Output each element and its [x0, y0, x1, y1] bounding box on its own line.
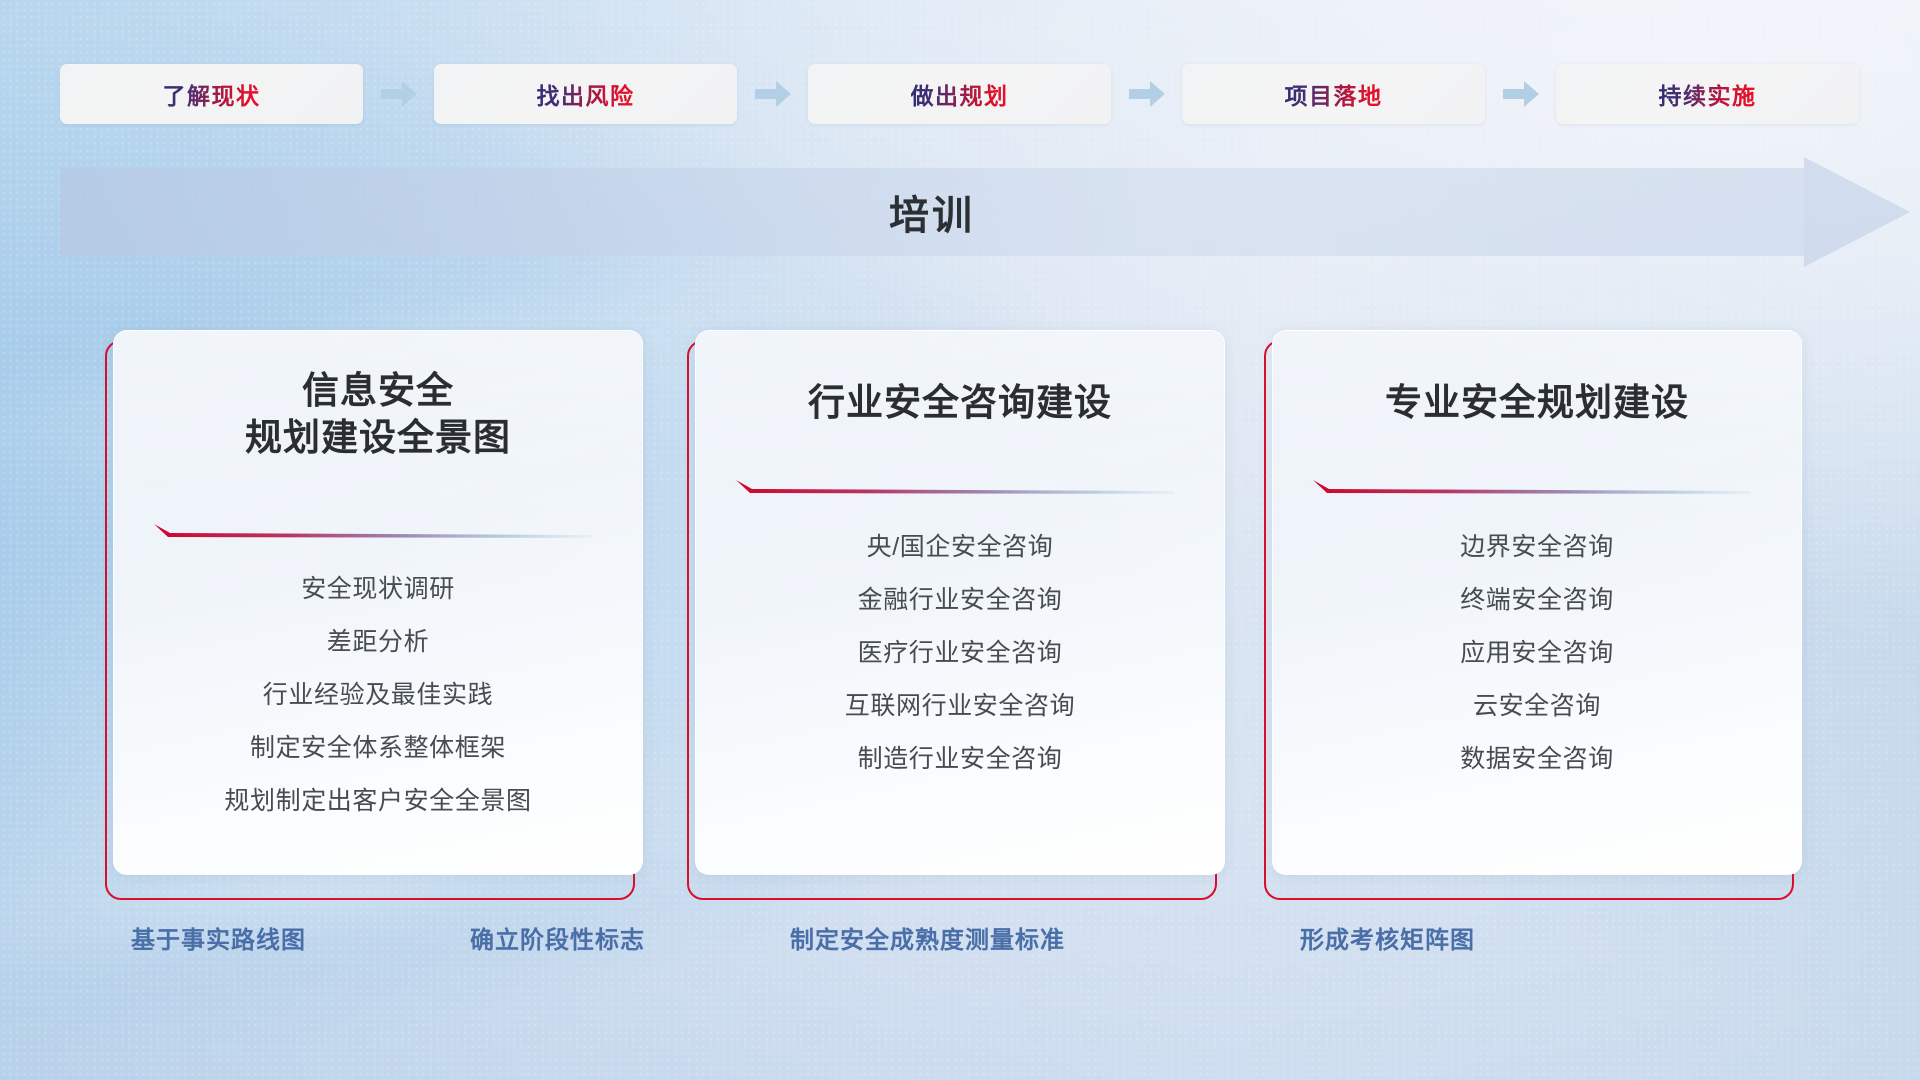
tapered-divider-icon — [154, 523, 592, 541]
arrow-right-icon — [381, 81, 417, 107]
capability-card-3[interactable]: 专业安全规划建设 边界安全咨询 — [1272, 330, 1802, 890]
card-1-title: 信息安全 规划建设全景图 — [114, 367, 642, 462]
card-2-item-list: 央/国企安全咨询 金融行业安全咨询 医疗行业安全咨询 互联网行业安全咨询 制造行… — [696, 527, 1224, 775]
card-3-title: 专业安全规划建设 — [1273, 379, 1801, 426]
arrow-right-icon — [1129, 81, 1165, 107]
list-item: 云安全咨询 — [1473, 686, 1601, 722]
footer-caption-4: 形成考核矩阵图 — [1300, 920, 1475, 955]
process-step-4-label: 项目落地 — [1285, 77, 1383, 111]
list-item: 互联网行业安全咨询 — [845, 686, 1075, 722]
process-step-2[interactable]: 找出风险 — [434, 64, 737, 124]
list-item: 应用安全咨询 — [1460, 633, 1614, 669]
card-1-panel: 信息安全 规划建设全景图 安全现状调研 — [113, 330, 643, 875]
card-3-divider — [1313, 479, 1751, 497]
tapered-divider-icon — [1313, 479, 1751, 497]
card-3-item-list: 边界安全咨询 终端安全咨询 应用安全咨询 云安全咨询 数据安全咨询 — [1273, 527, 1801, 775]
process-step-5[interactable]: 持续实施 — [1556, 64, 1859, 124]
footer-caption-row: 基于事实路线图 确立阶段性标志 制定安全成熟度测量标准 形成考核矩阵图 — [0, 920, 1920, 966]
list-item: 制定安全体系整体框架 — [250, 728, 506, 764]
process-step-3-label: 做出规划 — [911, 77, 1009, 111]
process-step-1-label: 了解现状 — [163, 77, 261, 111]
arrow-right-icon — [1503, 81, 1539, 107]
card-3-panel: 专业安全规划建设 边界安全咨询 — [1272, 330, 1802, 875]
list-item: 行业经验及最佳实践 — [263, 675, 493, 711]
list-item: 数据安全咨询 — [1460, 739, 1614, 775]
step-connector-4 — [1485, 64, 1556, 124]
list-item: 制造行业安全咨询 — [858, 739, 1063, 775]
training-banner: 培训 — [60, 168, 1860, 256]
card-1-item-list: 安全现状调研 差距分析 行业经验及最佳实践 制定安全体系整体框架 规划制定出客户… — [114, 569, 642, 817]
list-item: 央/国企安全咨询 — [867, 527, 1054, 563]
step-connector-3 — [1111, 64, 1182, 124]
list-item: 差距分析 — [327, 622, 429, 658]
step-connector-2 — [737, 64, 808, 124]
footer-caption-2: 确立阶段性标志 — [470, 920, 645, 955]
capability-card-2[interactable]: 行业安全咨询建设 央/国企安全咨询 — [695, 330, 1225, 890]
process-step-1[interactable]: 了解现状 — [60, 64, 363, 124]
list-item: 金融行业安全咨询 — [858, 580, 1063, 616]
list-item: 医疗行业安全咨询 — [858, 633, 1063, 669]
training-banner-label: 培训 — [60, 168, 1804, 256]
tapered-divider-icon — [736, 479, 1174, 497]
card-2-panel: 行业安全咨询建设 央/国企安全咨询 — [695, 330, 1225, 875]
process-step-4[interactable]: 项目落地 — [1182, 64, 1485, 124]
footer-caption-1: 基于事实路线图 — [131, 920, 306, 955]
training-banner-arrow-tip — [1804, 157, 1910, 267]
card-2-divider — [736, 479, 1174, 497]
capability-card-1[interactable]: 信息安全 规划建设全景图 安全现状调研 — [113, 330, 643, 890]
list-item: 安全现状调研 — [301, 569, 455, 605]
process-step-flow: 了解现状 找出风险 做出规划 项目落地 持续实施 — [60, 64, 1860, 124]
process-step-2-label: 找出风险 — [537, 77, 635, 111]
card-2-title: 行业安全咨询建设 — [696, 379, 1224, 426]
process-step-5-label: 持续实施 — [1659, 77, 1757, 111]
capability-card-row: 信息安全 规划建设全景图 安全现状调研 — [0, 330, 1920, 890]
step-connector-1 — [363, 64, 434, 124]
arrow-right-icon — [755, 81, 791, 107]
list-item: 规划制定出客户安全全景图 — [224, 781, 531, 817]
list-item: 终端安全咨询 — [1460, 580, 1614, 616]
process-step-3[interactable]: 做出规划 — [808, 64, 1111, 124]
footer-caption-3: 制定安全成熟度测量标准 — [790, 920, 1065, 955]
list-item: 边界安全咨询 — [1460, 527, 1614, 563]
card-1-divider — [154, 523, 592, 541]
